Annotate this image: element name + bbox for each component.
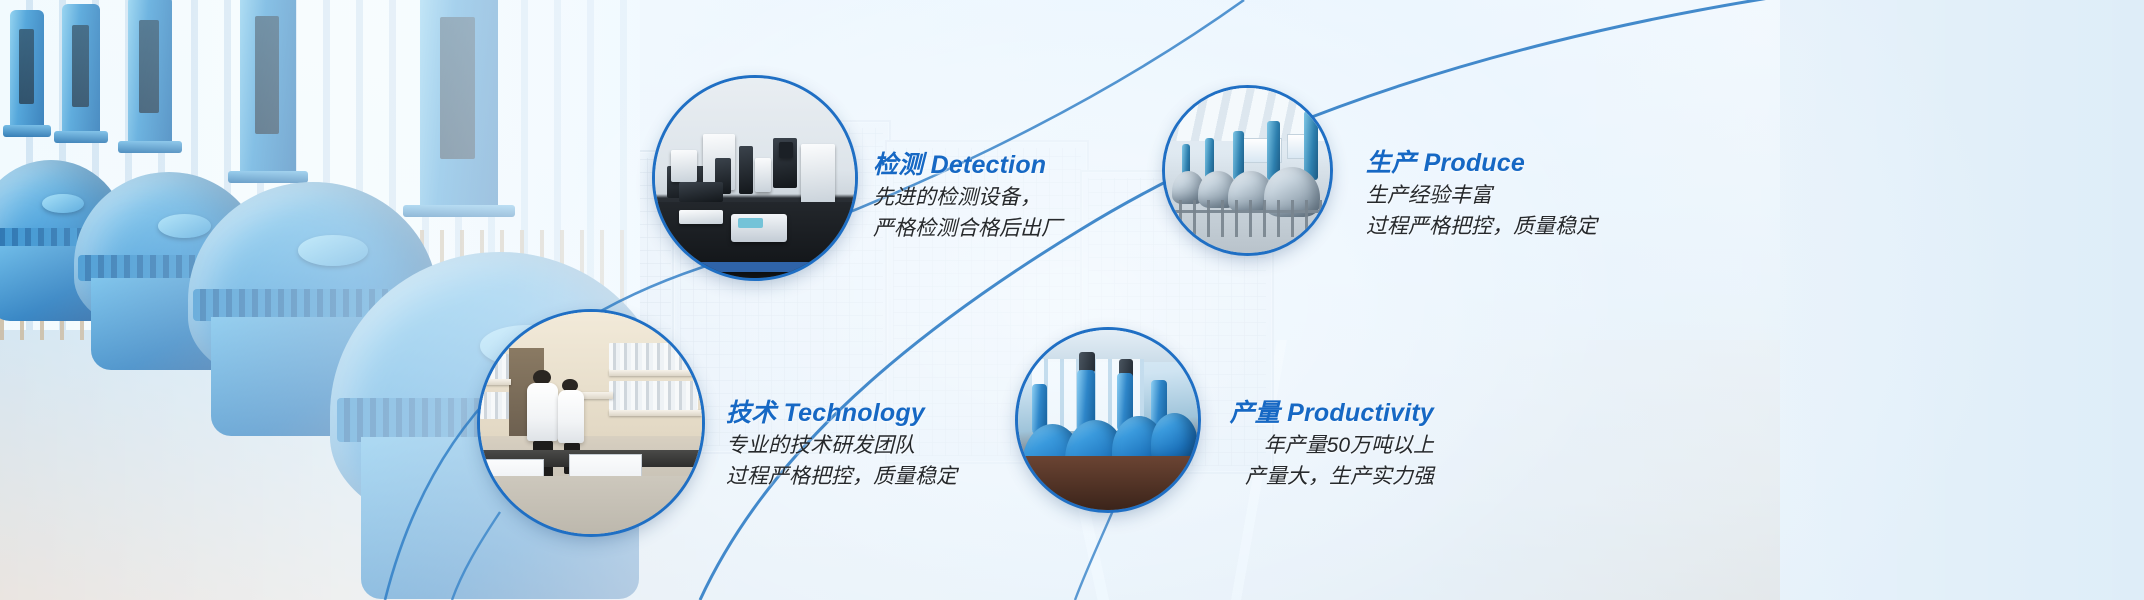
feature-text-produce: 生产 Produce 生产经验丰富 过程严格把控，质量稳定: [1366, 146, 1597, 242]
feature-text-technology: 技术 Technology 专业的技术研发团队 过程严格把控，质量稳定: [726, 396, 957, 492]
feature-line-produce-2: 过程严格把控，质量稳定: [1366, 211, 1597, 242]
feature-line-produce-1: 生产经验丰富: [1366, 180, 1597, 211]
arc-main: [700, 0, 2144, 600]
production-reactor-hall-photo: [1165, 88, 1330, 253]
feature-line-technology-2: 过程严格把控，质量稳定: [726, 461, 957, 492]
technology-laboratory-staff-photo: [480, 312, 702, 534]
detection-lab-instruments-photo: [655, 78, 855, 278]
feature-line-productivity-1: 年产量50万吨以上: [1030, 430, 1434, 461]
feature-line-detection-2: 严格检测合格后出厂: [873, 213, 1062, 244]
feature-photo-detection[interactable]: [655, 78, 855, 278]
feature-text-productivity: 产量 Productivity 年产量50万吨以上 产量大，生产实力强: [1030, 396, 1434, 492]
factory-strength-banner: 检测 Detection 先进的检测设备， 严格检测合格后出厂 生产 Produ…: [0, 0, 2144, 600]
feature-heading-productivity: 产量 Productivity: [1030, 396, 1434, 430]
feature-heading-technology: 技术 Technology: [726, 396, 957, 430]
feature-line-productivity-2: 产量大，生产实力强: [1030, 461, 1434, 492]
feature-photo-produce[interactable]: [1165, 88, 1330, 253]
feature-photo-technology[interactable]: [480, 312, 702, 534]
feature-line-technology-1: 专业的技术研发团队: [726, 430, 957, 461]
feature-line-detection-1: 先进的检测设备，: [873, 182, 1062, 213]
feature-text-detection: 检测 Detection 先进的检测设备， 严格检测合格后出厂: [873, 148, 1062, 244]
decorative-arc-lines: [0, 0, 2144, 600]
feature-heading-produce: 生产 Produce: [1366, 146, 1597, 180]
feature-heading-detection: 检测 Detection: [873, 148, 1062, 182]
